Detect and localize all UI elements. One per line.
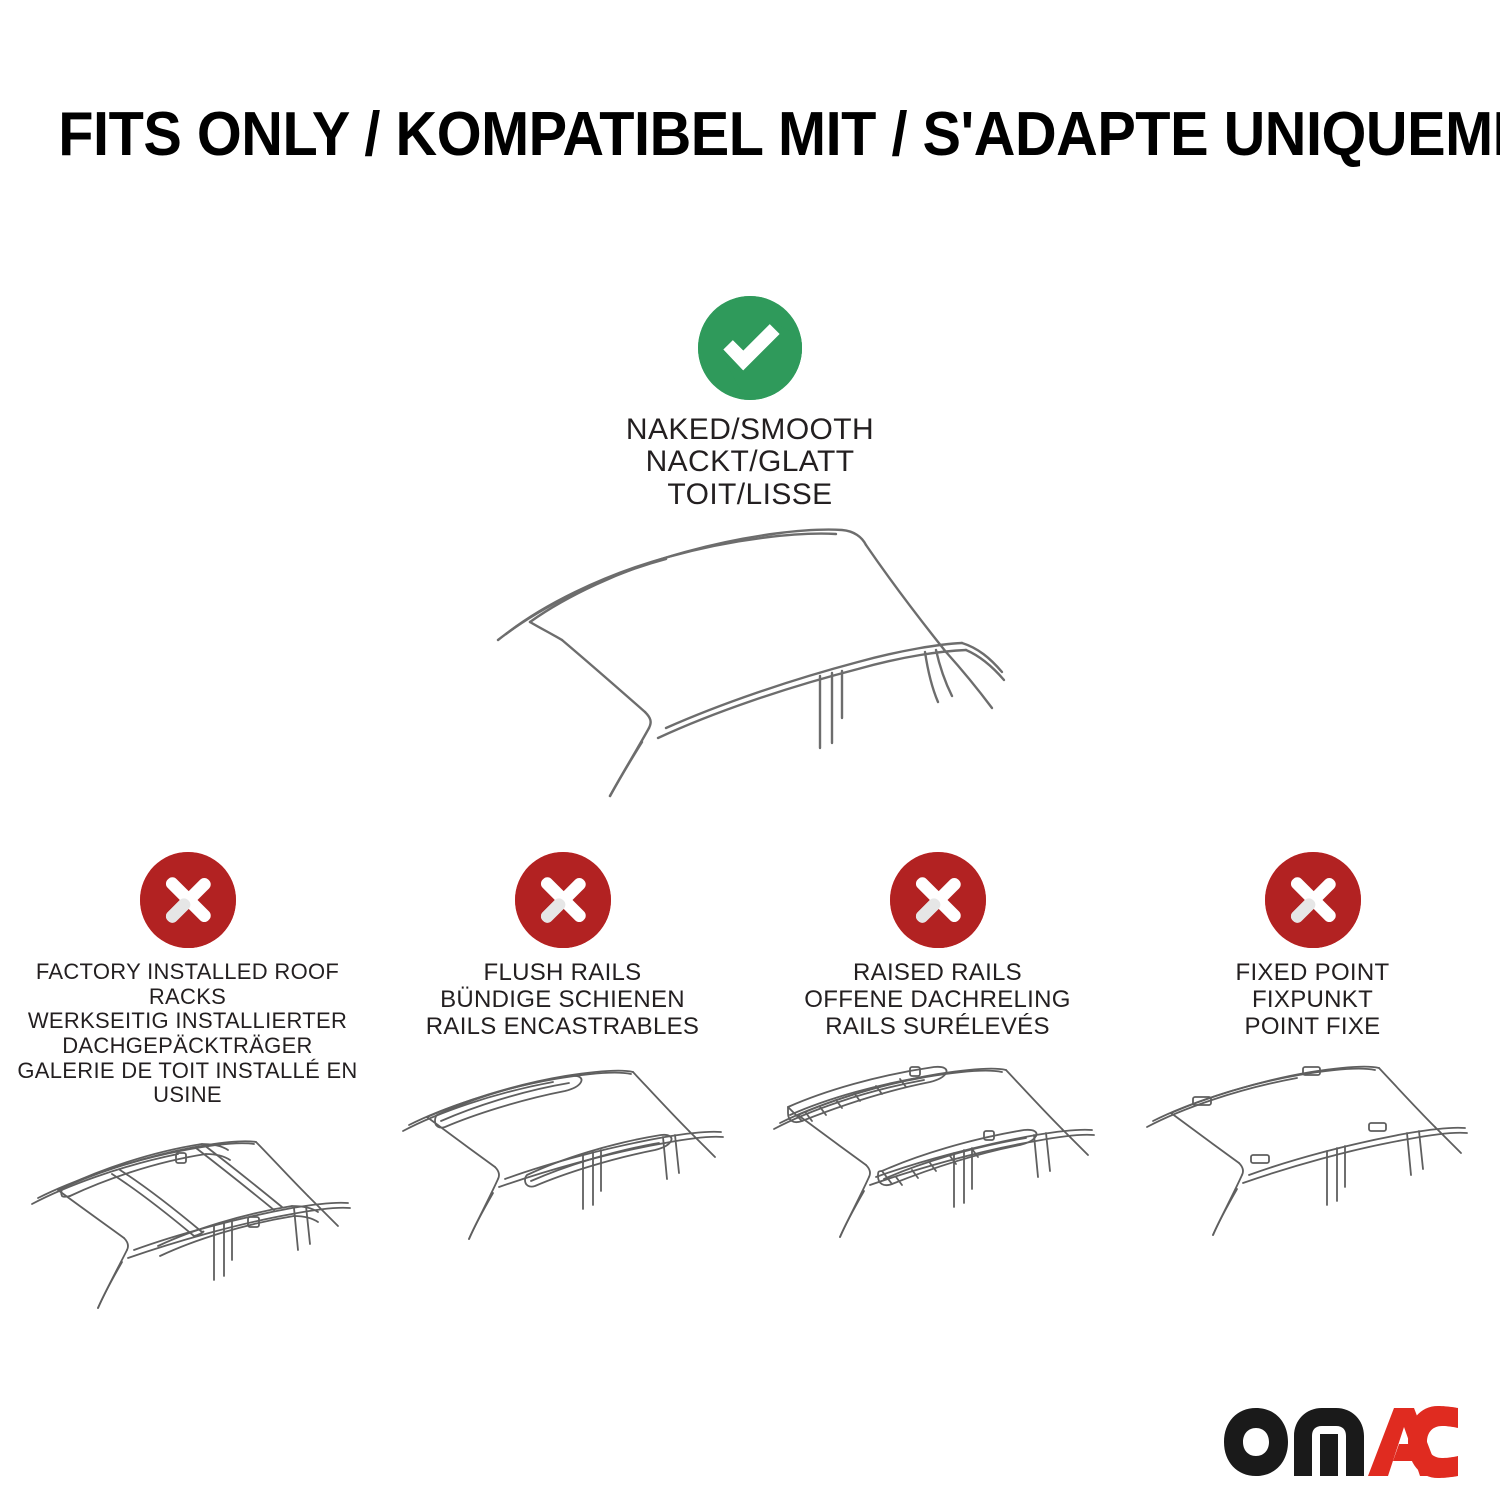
compatible-label-en: NAKED/SMOOTH [0,414,1500,446]
factory-rack-label-en: FACTORY INSTALLED ROOF RACKS [0,960,375,1009]
bare-smooth-car-roof-illustration [470,512,1050,802]
x-mark-glyph [515,852,611,948]
x-mark-glyph [140,852,236,948]
car-roof-with-raised-rails-illustration [758,1051,1118,1266]
logo-letter-o [1224,1408,1288,1476]
x-mark-glyph [890,852,986,948]
flush-rails-label-fr: RAILS ENCASTRABLES [375,1014,750,1041]
compatible-label-de: NACKT/GLATT [0,446,1500,478]
incompatible-item-flush-rails: FLUSH RAILS BÜNDIGE SCHIENEN RAILS ENCAS… [375,852,750,1333]
car-roof-with-flush-rails-illustration [383,1051,743,1266]
raised-rails-label-en: RAISED RAILS [750,960,1125,987]
raised-rails-label-de: OFFENE DACHRELING [750,987,1125,1014]
car-roof-with-factory-rack-crossbars-illustration [8,1118,368,1333]
fixed-point-label-de: FIXPUNKT [1125,987,1500,1014]
car-roof-with-fixed-points-illustration [1133,1051,1493,1266]
x-circle-icon [140,852,236,948]
x-mark-glyph [1265,852,1361,948]
compatible-labels: NAKED/SMOOTH NACKT/GLATT TOIT/LISSE [0,414,1500,511]
logo-letter-m [1294,1408,1364,1476]
incompatible-section: FACTORY INSTALLED ROOF RACKS WERKSEITIG … [0,852,1500,1333]
fixed-point-labels: FIXED POINT FIXPUNKT POINT FIXE [1125,960,1500,1041]
check-circle-icon [698,296,802,400]
factory-rack-label-de-1: WERKSEITIG INSTALLIERTER [0,1009,375,1034]
x-circle-icon [515,852,611,948]
factory-rack-label-de-2: DACHGEPÄCKTRÄGER [0,1034,375,1059]
check-mark-glyph [698,296,802,400]
flush-rails-label-en: FLUSH RAILS [375,960,750,987]
flush-rails-labels: FLUSH RAILS BÜNDIGE SCHIENEN RAILS ENCAS… [375,960,750,1041]
page-title-text: FITS ONLY / KOMPATIBEL MIT / S'ADAPTE UN… [58,104,1500,166]
incompatible-item-raised-rails: RAISED RAILS OFFENE DACHRELING RAILS SUR… [750,852,1125,1333]
fixed-point-label-en: FIXED POINT [1125,960,1500,987]
incompatible-item-fixed-point: FIXED POINT FIXPUNKT POINT FIXE [1125,852,1500,1333]
x-circle-icon [1265,852,1361,948]
fixed-point-label-fr: POINT FIXE [1125,1014,1500,1041]
factory-rack-labels: FACTORY INSTALLED ROOF RACKS WERKSEITIG … [0,960,375,1108]
omac-logo [1222,1406,1460,1478]
factory-rack-label-fr: GALERIE DE TOIT INSTALLÉ EN USINE [0,1059,375,1108]
flush-rails-label-de: BÜNDIGE SCHIENEN [375,987,750,1014]
raised-rails-labels: RAISED RAILS OFFENE DACHRELING RAILS SUR… [750,960,1125,1041]
incompatible-item-factory-rack: FACTORY INSTALLED ROOF RACKS WERKSEITIG … [0,852,375,1333]
compatible-label-fr: TOIT/LISSE [0,479,1500,511]
page-title: FITS ONLY / KOMPATIBEL MIT / S'ADAPTE UN… [0,104,1500,166]
x-circle-icon [890,852,986,948]
compatible-section: NAKED/SMOOTH NACKT/GLATT TOIT/LISSE [0,296,1500,511]
raised-rails-label-fr: RAILS SURÉLEVÉS [750,1014,1125,1041]
